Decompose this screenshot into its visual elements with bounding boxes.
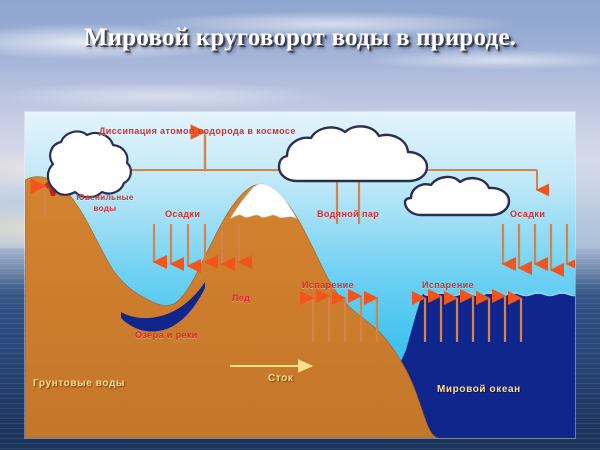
label-precipitation-right: Осадки [510,209,545,220]
label-groundwater: Грунтовые воды [33,378,125,389]
label-dissipation-line1: Диссипация атомов водорода в космосе [99,126,296,137]
label-water-vapor: Водяной пар [317,209,379,220]
label-lakes-and-rivers: Озера и реки [135,330,198,341]
label-ice: Лед [232,293,250,304]
page-title: Мировой круговорот воды в природе. [40,22,560,53]
label-juvenile-waters: Ювенильные воды [69,192,141,214]
label-runoff: Сток [268,373,294,384]
label-evaporation-land: Испарение [302,280,354,291]
water-cycle-diagram: Диссипация атомов водорода в космосе Юве… [25,112,575,438]
slide: Мировой круговорот воды в природе. [0,0,600,450]
label-precipitation-left: Осадки [165,209,200,220]
label-world-ocean: Мировой океан [437,384,521,395]
label-evaporation-ocean: Испарение [422,280,474,291]
